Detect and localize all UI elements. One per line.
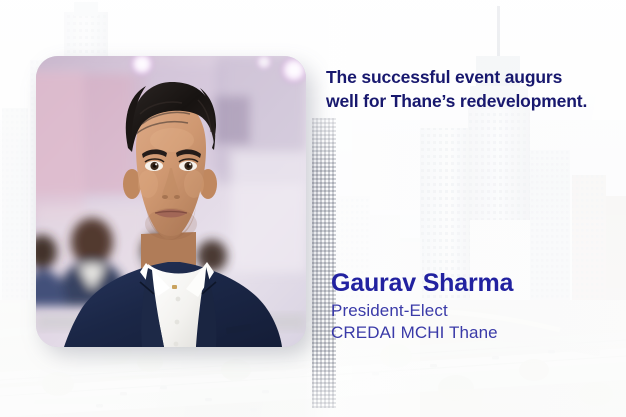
person-name: Gaurav Sharma — [331, 269, 611, 297]
headline-line-1: The successful event augurs — [326, 67, 562, 87]
headline-line-2: well for Thane’s redevelopment. — [326, 90, 618, 114]
attribution-block: Gaurav Sharma President-Elect CREDAI MCH… — [331, 269, 611, 344]
headline-quote: The successful event augurs well for Tha… — [326, 66, 618, 114]
portrait-photo — [36, 56, 306, 347]
person-organization: CREDAI MCHI Thane — [331, 322, 611, 344]
quote-card: The successful event augurs well for Tha… — [0, 0, 626, 417]
person-role: President-Elect — [331, 300, 611, 322]
